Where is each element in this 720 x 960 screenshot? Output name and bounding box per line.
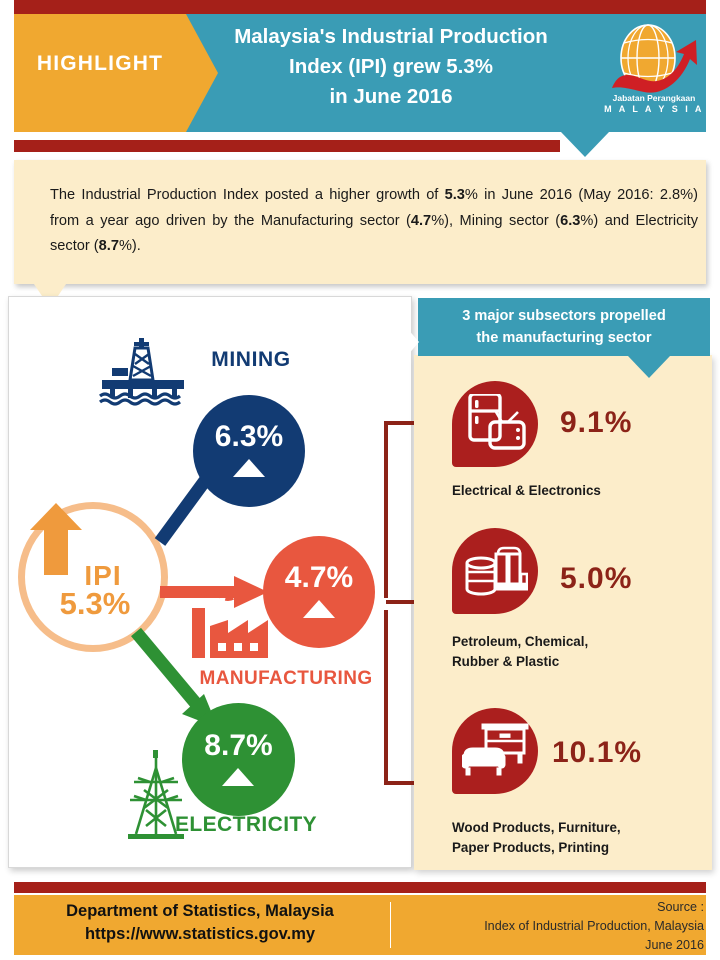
- trend-up-triangle-mining: [233, 459, 265, 477]
- factory-icon: [190, 586, 270, 664]
- footer-accent-bar: [14, 882, 706, 893]
- subsector-label-1: Electrical & Electronics: [452, 481, 708, 501]
- ipi-value: 5.3%: [20, 586, 170, 622]
- logo-text-line2: M A L A Y S I A: [604, 104, 704, 114]
- subsectors-heading-line2: the manufacturing sector: [476, 330, 651, 346]
- page-title: Malaysia's Industrial Production Index (…: [196, 22, 586, 112]
- subsector-label-3: Wood Products, Furniture, Paper Products…: [452, 818, 708, 858]
- oil-drum-refinery-icon: [464, 538, 528, 602]
- subsector-label-2-line2: Rubber & Plastic: [452, 654, 559, 669]
- page-title-line1: Malaysia's Industrial Production: [196, 22, 586, 52]
- trend-up-triangle-electricity: [222, 768, 254, 786]
- sector-label-mining: MINING: [186, 348, 316, 372]
- footer-website-link[interactable]: https://www.statistics.gov.my: [20, 925, 380, 944]
- furniture-icon: [462, 722, 532, 780]
- subsector-label-2: Petroleum, Chemical, Rubber & Plastic: [452, 632, 708, 672]
- trend-up-triangle-manufacturing: [303, 600, 335, 618]
- page-title-line2: Index (IPI) grew 5.3%: [196, 52, 586, 82]
- subsector-label-3-line2: Paper Products, Printing: [452, 840, 609, 855]
- sector-value-mining: 6.3%: [193, 420, 305, 454]
- sector-label-manufacturing: MANUFACTURING: [196, 668, 376, 690]
- highlight-label: HIGHLIGHT: [14, 52, 186, 76]
- header-top-bar: [14, 0, 706, 14]
- oil-rig-icon: [98, 336, 188, 408]
- header-accent-bar: [14, 140, 560, 152]
- subsectors-heading: 3 major subsectors propelled the manufac…: [418, 305, 710, 349]
- subsector-value-1: 9.1%: [560, 406, 632, 440]
- footer-department: Department of Statistics, Malaysia: [20, 902, 380, 921]
- logo-text-line1: Jabatan Perangkaan: [604, 93, 704, 103]
- subsector-label-2-line1: Petroleum, Chemical,: [452, 634, 588, 649]
- subsector-label-3-line1: Wood Products, Furniture,: [452, 820, 621, 835]
- sector-value-manufacturing: 4.7%: [263, 561, 375, 595]
- subsectors-heading-notch: [400, 320, 419, 364]
- page-title-line3: in June 2016: [196, 82, 586, 112]
- header-pointer-triangle: [561, 132, 609, 157]
- sector-label-electricity: ELECTRICITY: [175, 813, 375, 837]
- footer-divider: [390, 902, 391, 948]
- infographic-page: HIGHLIGHT Malaysia's Industrial Producti…: [0, 0, 720, 960]
- summary-callout: The Industrial Production Index posted a…: [14, 160, 706, 284]
- subsector-value-2: 5.0%: [560, 562, 632, 596]
- subsectors-heading-pointer: [628, 356, 670, 378]
- summary-text: The Industrial Production Index posted a…: [50, 183, 698, 260]
- footer-source-line1: Source :: [657, 900, 704, 914]
- footer-source-line2: Index of Industrial Production, Malaysia: [484, 919, 704, 933]
- subsector-value-3: 10.1%: [552, 736, 642, 770]
- footer-source: Source : Index of Industrial Production,…: [414, 898, 704, 955]
- sector-value-electricity: 8.7%: [182, 729, 295, 763]
- subsectors-heading-line1: 3 major subsectors propelled: [462, 308, 666, 324]
- subsector-label-1-line1: Electrical & Electronics: [452, 483, 601, 498]
- footer-source-line3: June 2016: [645, 938, 704, 952]
- fridge-tv-icon: [468, 394, 526, 454]
